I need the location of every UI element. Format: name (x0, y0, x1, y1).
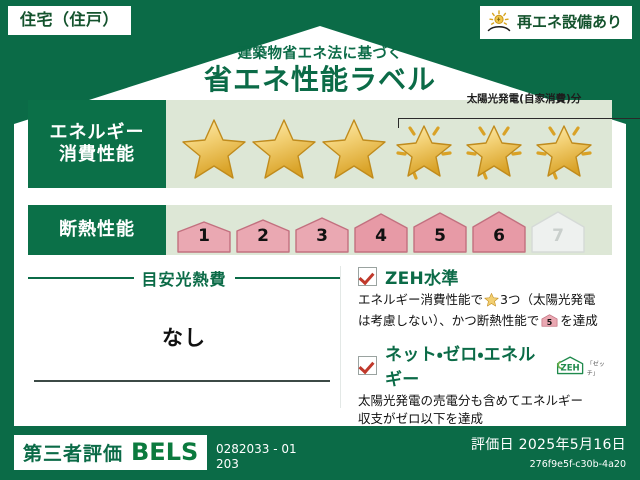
sun-icon (486, 10, 512, 34)
zeh-standard-row: ZEH水準 (358, 264, 612, 289)
third-party-label: 第三者評価 (23, 439, 123, 466)
mini-star-icon (484, 292, 499, 312)
utility-cost-label: 目安光熱費 (142, 266, 227, 290)
solar-bracket-caption: 太陽光発電(自家消費)分 (398, 91, 640, 106)
nze-desc-part2: 収支がゼロ以下を達成 (358, 411, 483, 426)
svg-text:ZEH: ZEH (560, 364, 579, 374)
bels-number: 0282033 - 01 203 (216, 442, 297, 472)
insulation-grade-2: 2 (235, 219, 291, 253)
star-icon-solar (390, 115, 458, 181)
energy-consumption-key: エネルギー 消費性能 (28, 100, 166, 188)
heading-rule-right (235, 277, 341, 279)
insulation-grade-label: 3 (294, 226, 350, 246)
energy-consumption-value: 太陽光発電(自家消費)分 (166, 100, 612, 188)
zeh-desc-part1: エネルギー消費性能で (358, 292, 483, 307)
bels-number-line1: 0282033 - 01 (216, 442, 297, 457)
insulation-grade-4: 4 (353, 213, 409, 253)
net-zero-energy-title: ネット・ゼロ・エネルギー (385, 340, 542, 390)
housing-type-label: 住宅（住戸） (20, 10, 119, 29)
insulation-grade-5: 5 (412, 212, 468, 253)
insulation-performance-row: 断熱性能 1 2 3 4 (28, 205, 612, 255)
evaluation-date: 評価日 2025年5月16日 (471, 434, 626, 454)
zeh-desc-star-count: 3つ（太陽光発電 (500, 292, 595, 307)
insulation-grade-label: 6 (471, 226, 527, 246)
lower-section: 目安光熱費 なし ZEH水準 エネルギー消費性能で3つ（太陽光発電 は考慮しない… (28, 264, 612, 414)
bels-label: BELS (131, 438, 198, 466)
star-rating (166, 115, 598, 181)
insulation-grade-3: 3 (294, 217, 350, 253)
net-zero-energy-row: ネット・ゼロ・エネルギー ZEH 「ゼッチ」 (358, 340, 612, 390)
nze-desc-part1: 太陽光発電の売電分も含めてエネルギー (358, 393, 583, 408)
insulation-key-label: 断熱性能 (59, 219, 135, 241)
net-zero-energy-description: 太陽光発電の売電分も含めてエネルギー 収支がゼロ以下を達成 (358, 392, 612, 428)
energy-key-line2: 消費性能 (59, 144, 135, 166)
renewable-equipment-badge: 再エネ設備あり (480, 6, 632, 39)
bels-number-line2: 203 (216, 457, 297, 472)
insulation-grade-label: 7 (530, 226, 586, 246)
zeh-logo-kana: 「ゼッチ」 (587, 359, 612, 377)
renewable-badge-label: 再エネ設備あり (517, 14, 622, 31)
zeh-standard-title: ZEH水準 (385, 264, 459, 289)
zeh-desc-part2: は考慮しない）、かつ断熱性能で (358, 313, 539, 328)
evaluation-hash: 276f9e5f-c30b-4a20 (530, 459, 626, 470)
zeh-standard-description: エネルギー消費性能で3つ（太陽光発電 は考慮しない）、かつ断熱性能で5を達成 (358, 291, 612, 330)
utility-cost-block: 目安光熱費 なし (28, 264, 340, 414)
energy-performance-label: 住宅（住戸） 再エネ設備あり 建築物省エネ法に基づく (0, 0, 640, 480)
star-icon-solar (530, 115, 598, 181)
zeh-logo: ZEH 「ゼッチ」 (555, 353, 612, 377)
insulation-grade-1: 1 (176, 221, 232, 253)
insulation-value: 1 2 3 4 5 (166, 205, 612, 255)
housing-type-tag: 住宅（住戸） (8, 6, 131, 35)
bels-chip: 第三者評価 BELS (14, 435, 207, 470)
insulation-grade-label: 5 (412, 226, 468, 246)
star-icon (320, 115, 388, 181)
energy-consumption-row: エネルギー 消費性能 太陽光発電(自家消費)分 (28, 100, 612, 188)
checkbox-checked-icon (358, 267, 377, 286)
heading-rule-left (28, 277, 134, 279)
insulation-grade-scale: 1 2 3 4 5 (166, 207, 586, 253)
utility-cost-value: なし (28, 322, 340, 352)
star-icon-solar (460, 115, 528, 181)
insulation-grade-7: 7 (530, 211, 586, 253)
insulation-key: 断熱性能 (28, 205, 166, 255)
mini-grade-house-icon: 5 (541, 313, 558, 328)
zeh-desc-part3: を達成 (560, 313, 598, 328)
svg-text:5: 5 (547, 318, 552, 327)
energy-key-line1: エネルギー (50, 122, 145, 144)
insulation-grade-label: 4 (353, 226, 409, 246)
star-icon (180, 115, 248, 181)
checkbox-checked-icon (358, 356, 377, 375)
utility-cost-rule (34, 380, 330, 382)
criteria-block: ZEH水準 エネルギー消費性能で3つ（太陽光発電 は考慮しない）、かつ断熱性能で… (341, 264, 612, 414)
insulation-grade-6: 6 (471, 211, 527, 253)
utility-cost-heading: 目安光熱費 (28, 266, 340, 290)
insulation-grade-label: 1 (176, 226, 232, 246)
star-icon (250, 115, 318, 181)
insulation-grade-label: 2 (235, 226, 291, 246)
footer: 第三者評価 BELS 0282033 - 01 203 評価日 2025年5月1… (0, 428, 640, 480)
